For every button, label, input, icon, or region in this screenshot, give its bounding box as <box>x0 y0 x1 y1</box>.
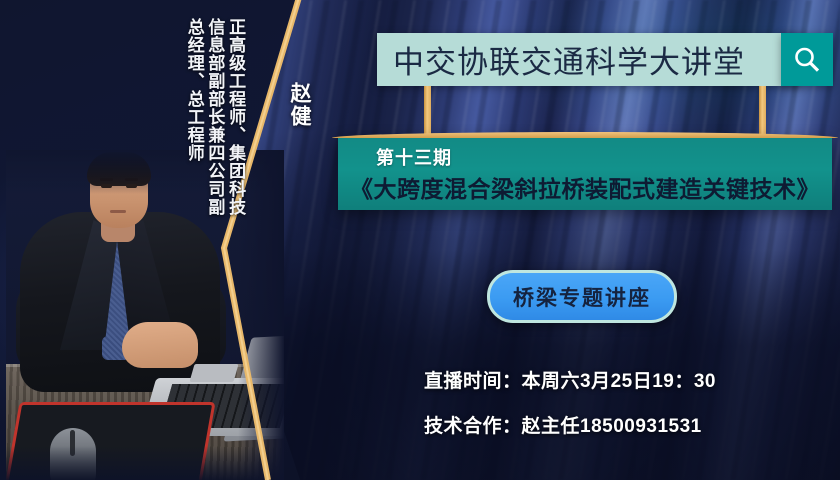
lecture-title: 《大跨度混合梁斜拉桥装配式建造关键技术》 <box>344 170 826 204</box>
broadcast-time: 直播时间：本周六3月25日19：30 <box>424 366 716 393</box>
credential-line-3: 总经理、总工程师 <box>184 18 203 162</box>
topic-badge-label: 桥梁专题讲座 <box>513 282 651 312</box>
search-icon <box>792 45 822 75</box>
title-banner: 中交协联交通科学大讲堂 <box>377 33 801 86</box>
subtitle-panel: 第十三期 《大跨度混合梁斜拉桥装配式建造关键技术》 <box>338 137 832 210</box>
speaker-credentials: 正高级工程师、集团科技 信息部副部长兼四公司副 总经理、总工程师 <box>184 18 244 216</box>
topic-badge[interactable]: 桥梁专题讲座 <box>487 270 677 323</box>
title-banner-text: 中交协联交通科学大讲堂 <box>393 37 745 82</box>
credential-line-2: 信息部副部长兼四公司副 <box>205 18 224 216</box>
gold-post-left <box>424 86 431 140</box>
webinar-poster: 正高级工程师、集团科技 信息部副部长兼四公司副 总经理、总工程师 赵健 中交协联… <box>0 0 840 480</box>
gold-post-right <box>759 86 766 140</box>
credential-line-1: 正高级工程师、集团科技 <box>225 18 244 216</box>
photo-mouth <box>110 210 126 213</box>
issue-number: 第十三期 <box>376 144 452 170</box>
photo-laptop-touchpad <box>189 364 238 382</box>
photo-clasped-hands <box>122 322 198 368</box>
speaker-name: 赵健 <box>284 82 314 128</box>
search-icon-box[interactable] <box>781 33 833 86</box>
contact-info: 技术合作：赵主任18500931531 <box>424 411 702 438</box>
